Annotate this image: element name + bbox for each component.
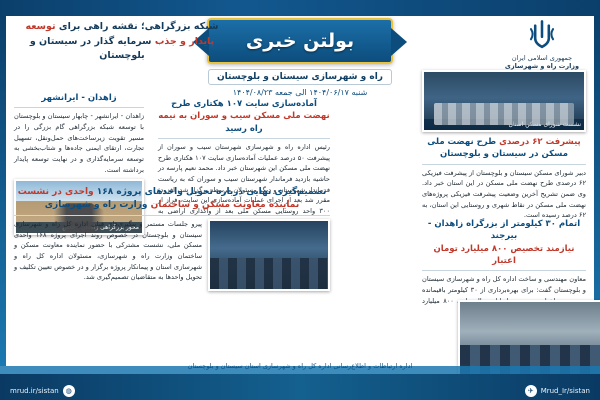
block3-text: پیرو جلسات مستمر و پیگیری‌های قبلی اداره… bbox=[14, 219, 202, 291]
lead-line1: شبکه بزرگراهی؛ نقشه راهی برای bbox=[59, 21, 219, 32]
globe-icon: ◍ bbox=[63, 385, 75, 397]
block2-title-line3: راه رسید bbox=[158, 123, 330, 135]
footer-website-text: mrud.ir/sistan bbox=[10, 387, 59, 395]
header-subtitle: راه و شهرسازی سیستان و بلوچستان bbox=[208, 69, 392, 85]
block3-title-line3: وزارت راه و شهرسازی bbox=[45, 200, 148, 210]
block1-text: زاهدان - ایرانشهر - چابهار سیستان و بلوچ… bbox=[14, 111, 144, 175]
header-center: بولتن خبری راه و شهرسازی سیستان و بلوچست… bbox=[202, 18, 398, 97]
block3-row: پیرو جلسات مستمر و پیگیری‌های قبلی اداره… bbox=[14, 219, 330, 291]
block4-title-line1: پیشرفت ۶۲ درصدی bbox=[499, 137, 581, 147]
block2-title-line2: نهضت ملی مسکن سیب و سوران به نیمه bbox=[158, 110, 330, 122]
iran-emblem-icon bbox=[525, 18, 559, 52]
footer-telegram[interactable]: Mrud_Ir/sistan ✈ bbox=[525, 385, 590, 397]
block3-title-line1: تصمیم‌گیری نهایی درباره تحویل واحدهای پر… bbox=[97, 187, 327, 197]
block4-title-line3: مسکن در سیستان و bbox=[484, 149, 568, 159]
footer-center-text: اداره ارتباطات و اطلاع‌رسانی اداره کل را… bbox=[0, 362, 600, 370]
title-ribbon: بولتن خبری bbox=[207, 18, 393, 64]
page-title: بولتن خبری bbox=[246, 30, 354, 52]
top-band bbox=[0, 0, 600, 16]
block4-photo: نشست شورای مسکن استان bbox=[422, 70, 586, 132]
block4-divider bbox=[422, 164, 586, 165]
header-date: شنبه ۱۴۰۴/۰۶/۱۷ الی جمعه ۱۴۰۴/۰۸/۲۳ bbox=[202, 88, 398, 97]
block-final-decision: تصمیم‌گیری نهایی درباره تحویل واحدهای پر… bbox=[14, 186, 330, 291]
block2-divider bbox=[158, 138, 330, 139]
footer-website[interactable]: ◍ mrud.ir/sistan bbox=[10, 385, 75, 397]
block2-title: آماده‌سازی سایت ۱۰۷ هکتاری طرح نهضت ملی … bbox=[158, 98, 330, 135]
block4-photo-caption: نشست شورای مسکن استان bbox=[424, 119, 584, 130]
block3-title: تصمیم‌گیری نهایی درباره تحویل واحدهای پر… bbox=[14, 186, 330, 212]
block2-title-line1: آماده‌سازی سایت ۱۰۷ هکتاری طرح bbox=[158, 98, 330, 110]
block4-title-line4: بلوچستان bbox=[440, 149, 481, 159]
block3-photo bbox=[208, 219, 330, 291]
lead-line2: سرمایه گذار در سیستان و بلوچستان bbox=[30, 36, 152, 62]
lead-headline: شبکه بزرگراهی؛ نقشه راهی برای توسعه پاید… bbox=[14, 20, 230, 64]
block5-divider bbox=[422, 270, 586, 271]
block1-divider bbox=[14, 107, 144, 108]
block4-title: پیشرفت ۶۲ درصدی طرح نهضت ملی مسکن در سیس… bbox=[422, 136, 586, 161]
bottom-band bbox=[0, 374, 600, 400]
telegram-icon: ✈ bbox=[525, 385, 537, 397]
block5-title-line1: اتمام ۳۰ کیلومتر از بزرگراه زاهدان - بیر… bbox=[422, 218, 586, 243]
block-housing-progress: نشست شورای مسکن استان پیشرفت ۶۲ درصدی طر… bbox=[422, 70, 586, 221]
block5-title-line2: نیازمند تخصیص ۸۰۰ میلیارد تومان اعتبار bbox=[422, 243, 586, 268]
block4-text: دبیر شورای مسکن سیستان و بلوچستان از پیش… bbox=[422, 168, 586, 221]
bulletin-page: جمهوری اسلامی ایران وزارت راه و شهرسازی … bbox=[0, 0, 600, 400]
org-line1: جمهوری اسلامی ایران bbox=[494, 54, 590, 62]
block5-title: اتمام ۳۰ کیلومتر از بزرگراه زاهدان - بیر… bbox=[422, 218, 586, 267]
block1-title: زاهدان - ایرانشهر bbox=[14, 92, 144, 104]
block4-title-line2: طرح نهضت ملی bbox=[427, 137, 496, 147]
block3-divider bbox=[14, 215, 330, 216]
footer-telegram-text: Mrud_Ir/sistan bbox=[541, 387, 590, 395]
